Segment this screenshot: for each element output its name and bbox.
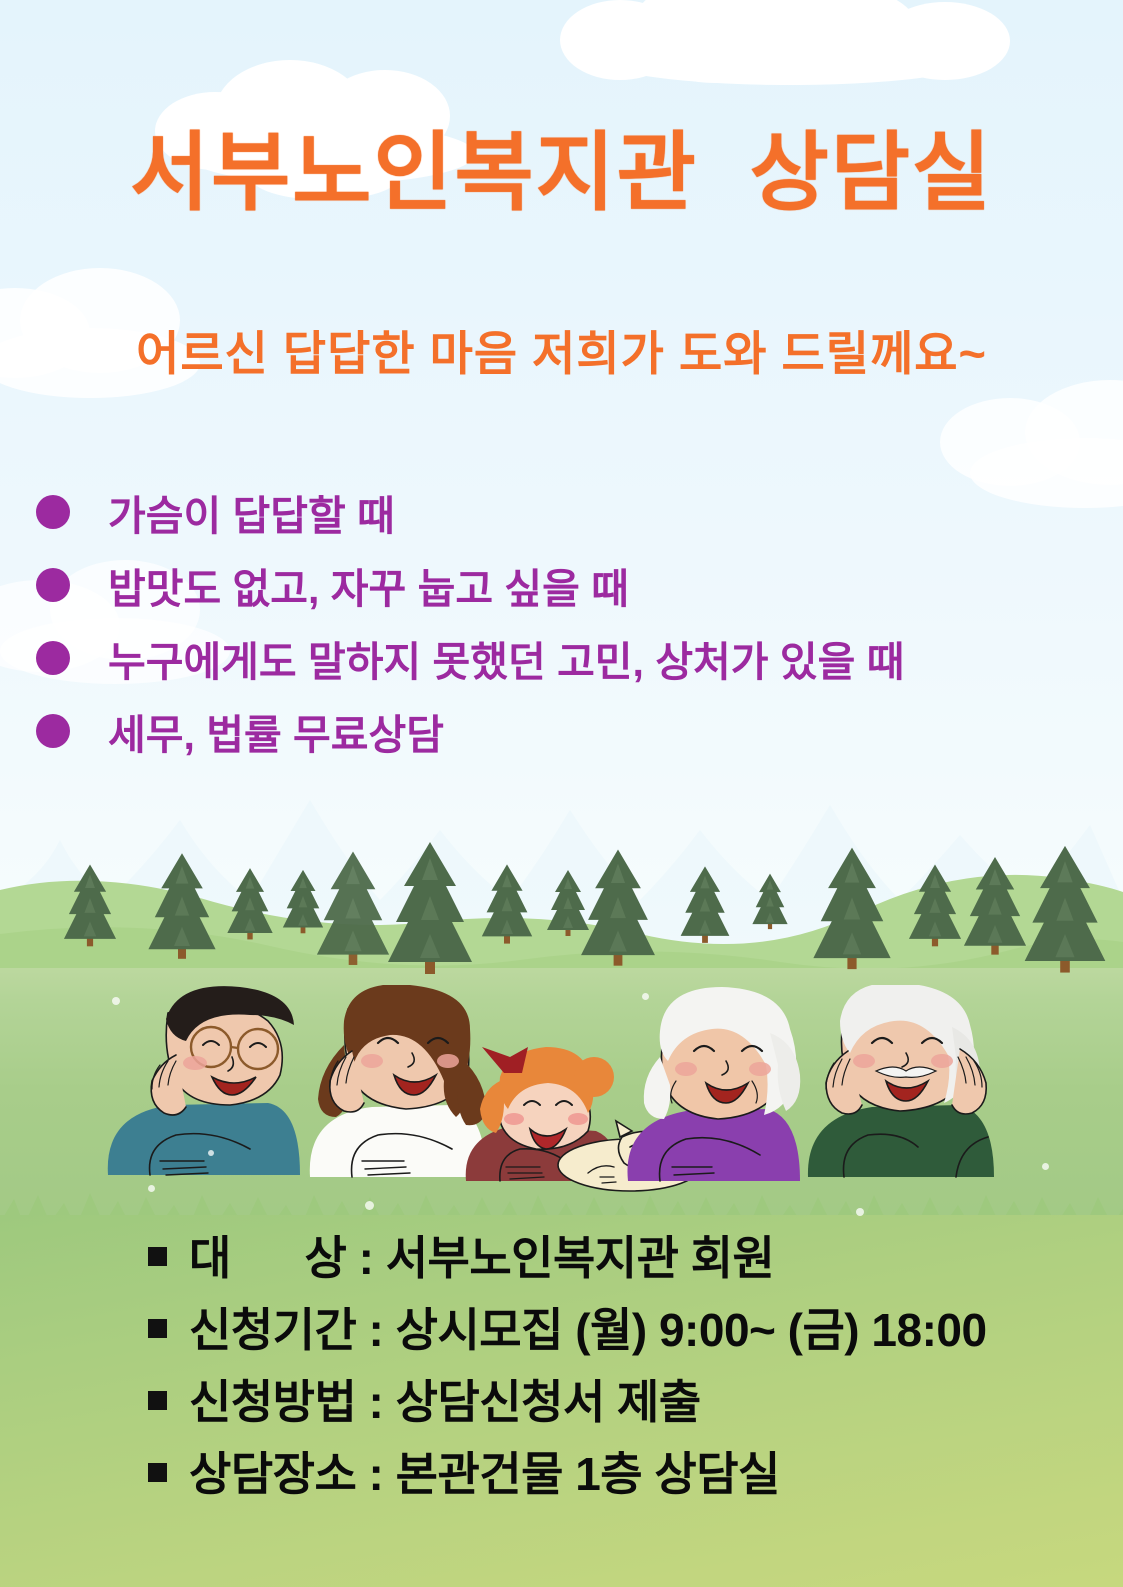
info-place-label: 상담장소 : 본관건물 1층 상담실 (189, 1438, 780, 1504)
list-item: 누구에게도 말하지 못했던 고민, 상처가 있을 때 (18, 628, 1108, 688)
poster-subtitle: 어르신 답답한 마음 저희가 도와 드릴께요~ (0, 315, 1123, 384)
filled-circle-bullet-icon (36, 495, 70, 529)
bullet-label: 밥맛도 없고, 자꾸 눕고 싶을 때 (108, 555, 629, 615)
filled-square-bullet-icon (148, 1391, 167, 1410)
filled-square-bullet-icon (148, 1463, 167, 1482)
poster-canvas: 서부노인복지관 상담실 어르신 답답한 마음 저희가 도와 드릴께요~ 가슴이 … (0, 0, 1123, 1587)
people-group-illustration (0, 985, 1123, 1200)
filled-circle-bullet-icon (36, 641, 70, 675)
figure-man-with-glasses (108, 986, 300, 1175)
sparkle-dot (112, 997, 120, 1005)
pine-tree-row (0, 838, 1123, 998)
sparkle-dot (208, 1150, 214, 1156)
info-target-label: 대 상 : 서부노인복지관 회원 (189, 1222, 774, 1288)
filled-circle-bullet-icon (36, 568, 70, 602)
info-method-label: 신청방법 : 상담신청서 제출 (189, 1366, 701, 1432)
figure-young-woman (310, 985, 486, 1177)
sparkle-dot (642, 993, 649, 1000)
symptom-bullet-list: 가슴이 답답할 때 밥맛도 없고, 자꾸 눕고 싶을 때 누구에게도 말하지 못… (18, 482, 1108, 774)
bullet-label: 누구에게도 말하지 못했던 고민, 상처가 있을 때 (108, 628, 904, 688)
list-item: 가슴이 답답할 때 (18, 482, 1108, 542)
filled-square-bullet-icon (148, 1319, 167, 1338)
sparkle-dot (856, 1208, 864, 1216)
filled-square-bullet-icon (148, 1247, 167, 1266)
list-item: 세무, 법률 무료상담 (18, 701, 1108, 761)
info-row: 대 상 : 서부노인복지관 회원 (148, 1222, 1108, 1286)
info-period-label: 신청기간 : 상시모집 (월) 9:00~ (금) 18:00 (189, 1294, 987, 1360)
sparkle-dot (365, 1201, 374, 1210)
info-row: 상담장소 : 본관건물 1층 상담실 (148, 1438, 1108, 1502)
figure-elderly-woman (627, 987, 800, 1181)
info-row: 신청기간 : 상시모집 (월) 9:00~ (금) 18:00 (148, 1294, 1108, 1358)
filled-circle-bullet-icon (36, 714, 70, 748)
program-details-list: 대 상 : 서부노인복지관 회원 신청기간 : 상시모집 (월) 9:00~ (… (148, 1222, 1108, 1510)
poster-title: 서부노인복지관 상담실 (0, 128, 1123, 218)
info-row: 신청방법 : 상담신청서 제출 (148, 1366, 1108, 1430)
bullet-label: 세무, 법률 무료상담 (108, 701, 444, 761)
list-item: 밥맛도 없고, 자꾸 눕고 싶을 때 (18, 555, 1108, 615)
bullet-label: 가슴이 답답할 때 (108, 482, 395, 542)
sparkle-dot (148, 1185, 155, 1192)
figure-elderly-man (808, 985, 994, 1177)
sparkle-dot (1042, 1163, 1049, 1170)
